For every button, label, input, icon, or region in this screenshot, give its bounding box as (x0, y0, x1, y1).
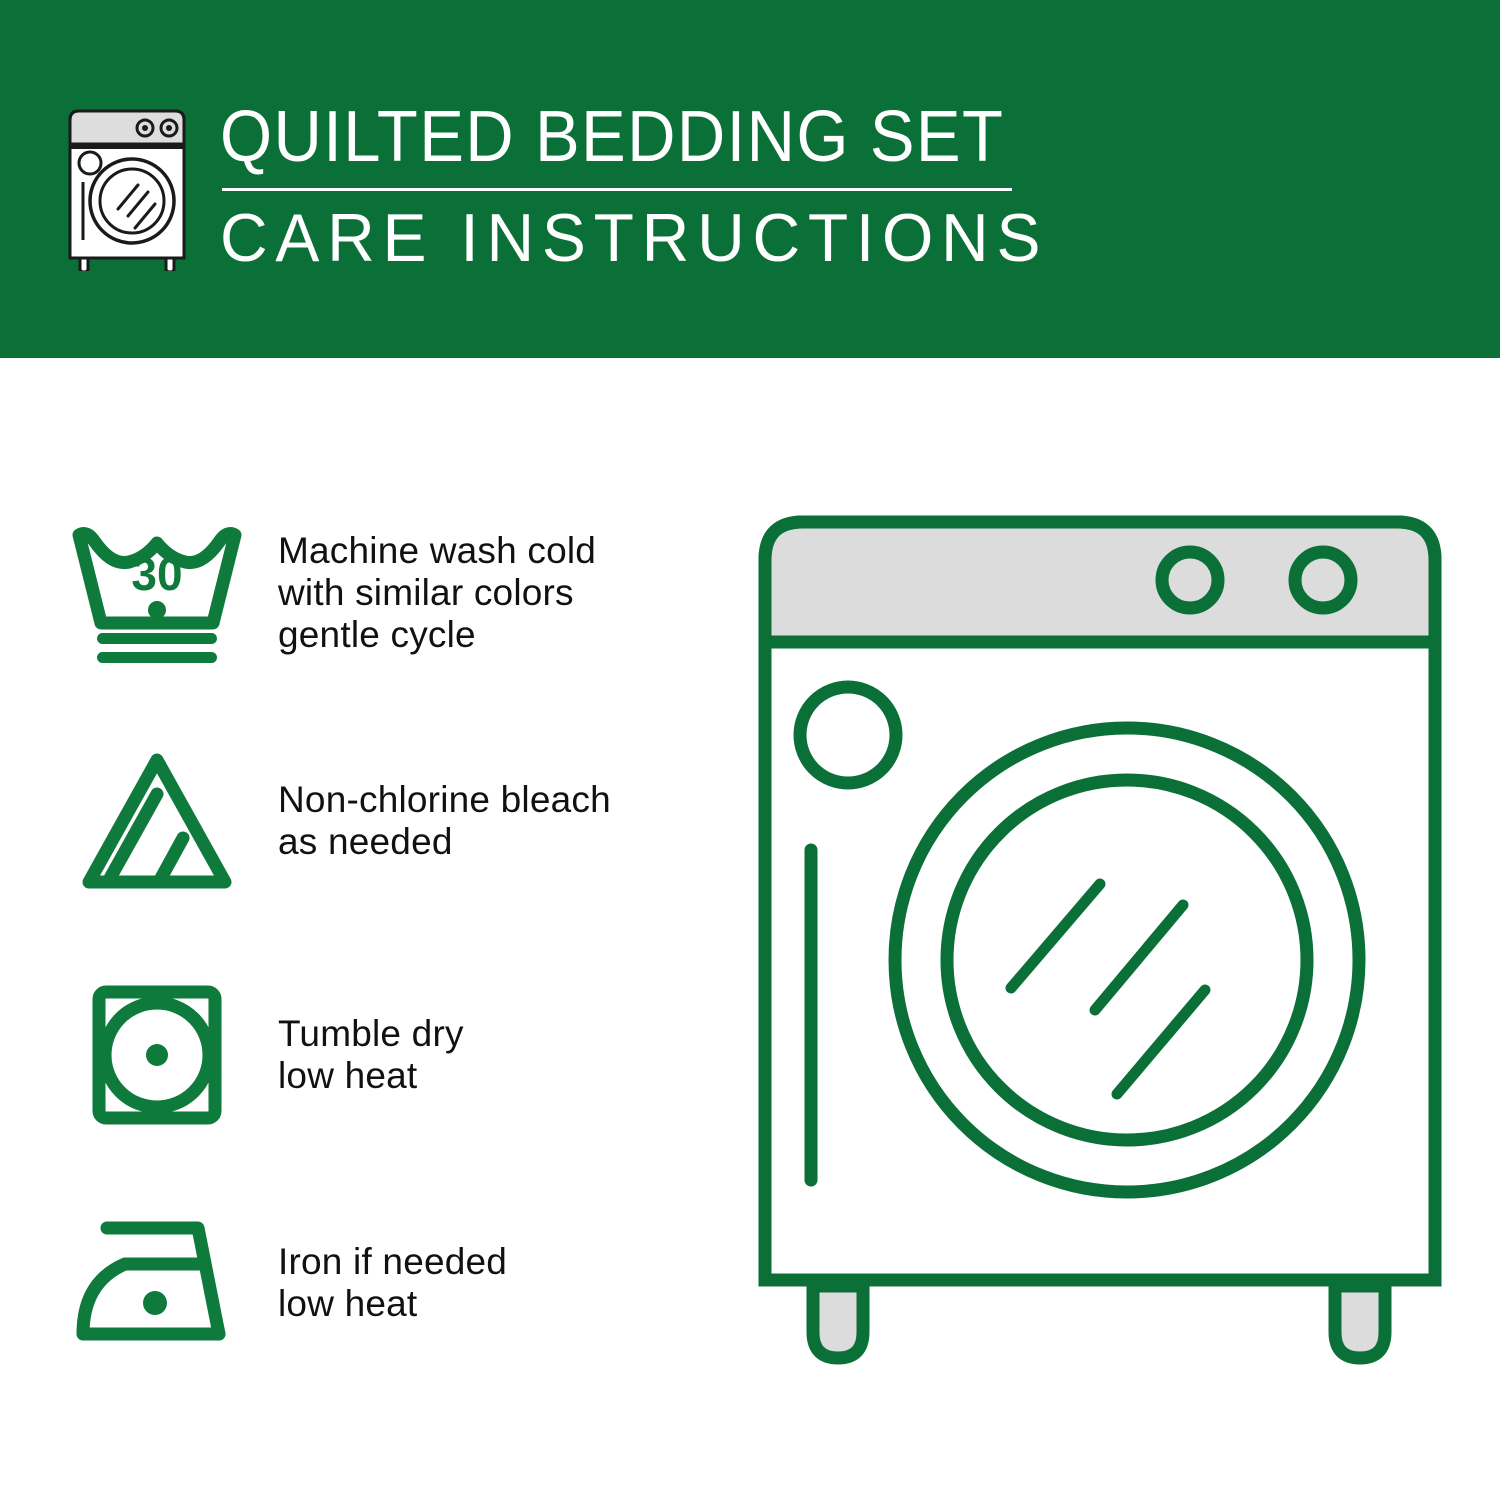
care-row: Non-chlorine bleach as needed (0, 736, 720, 906)
page-subtitle: CARE INSTRUCTIONS (220, 201, 1048, 275)
non-chlorine-bleach-triangle-icon (62, 736, 252, 906)
care-text: Machine wash cold with similar colors ge… (278, 530, 596, 656)
care-line: with similar colors (278, 572, 596, 614)
washing-machine-icon (62, 106, 192, 271)
header-content: QUILTED BEDDING SET CARE INSTRUCTIONS (62, 98, 1074, 275)
iron-low-heat-icon (62, 1198, 252, 1368)
care-row: 30 Machine wash cold with similar colors… (0, 508, 720, 678)
care-line: Tumble dry (278, 1013, 464, 1055)
leg-right (1335, 1286, 1385, 1358)
wash-temperature-label: 30 (131, 548, 182, 600)
page-title: QUILTED BEDDING SET (220, 98, 1014, 176)
wash-tub-30-gentle-icon: 30 (62, 508, 252, 678)
leg-left (813, 1286, 863, 1358)
tumble-dry-low-icon (62, 970, 252, 1140)
care-line: as needed (278, 821, 611, 863)
care-line: low heat (278, 1055, 464, 1097)
care-text: Non-chlorine bleach as needed (278, 779, 611, 863)
front-load-washing-machine-illustration (735, 480, 1465, 1440)
care-row: Iron if needed low heat (0, 1198, 720, 1368)
header-titles: QUILTED BEDDING SET CARE INSTRUCTIONS (220, 98, 1074, 275)
care-instructions-list: 30 Machine wash cold with similar colors… (0, 358, 720, 1500)
header-band: QUILTED BEDDING SET CARE INSTRUCTIONS (0, 0, 1500, 358)
care-text: Iron if needed low heat (278, 1241, 507, 1325)
title-divider (222, 188, 1012, 191)
control-panel (772, 529, 1429, 639)
care-row: Tumble dry low heat (0, 970, 720, 1140)
care-line: Iron if needed (278, 1241, 507, 1283)
care-line: low heat (278, 1283, 507, 1325)
care-line: gentle cycle (278, 614, 596, 656)
care-line: Machine wash cold (278, 530, 596, 572)
care-line: Non-chlorine bleach (278, 779, 611, 821)
care-text: Tumble dry low heat (278, 1013, 464, 1097)
